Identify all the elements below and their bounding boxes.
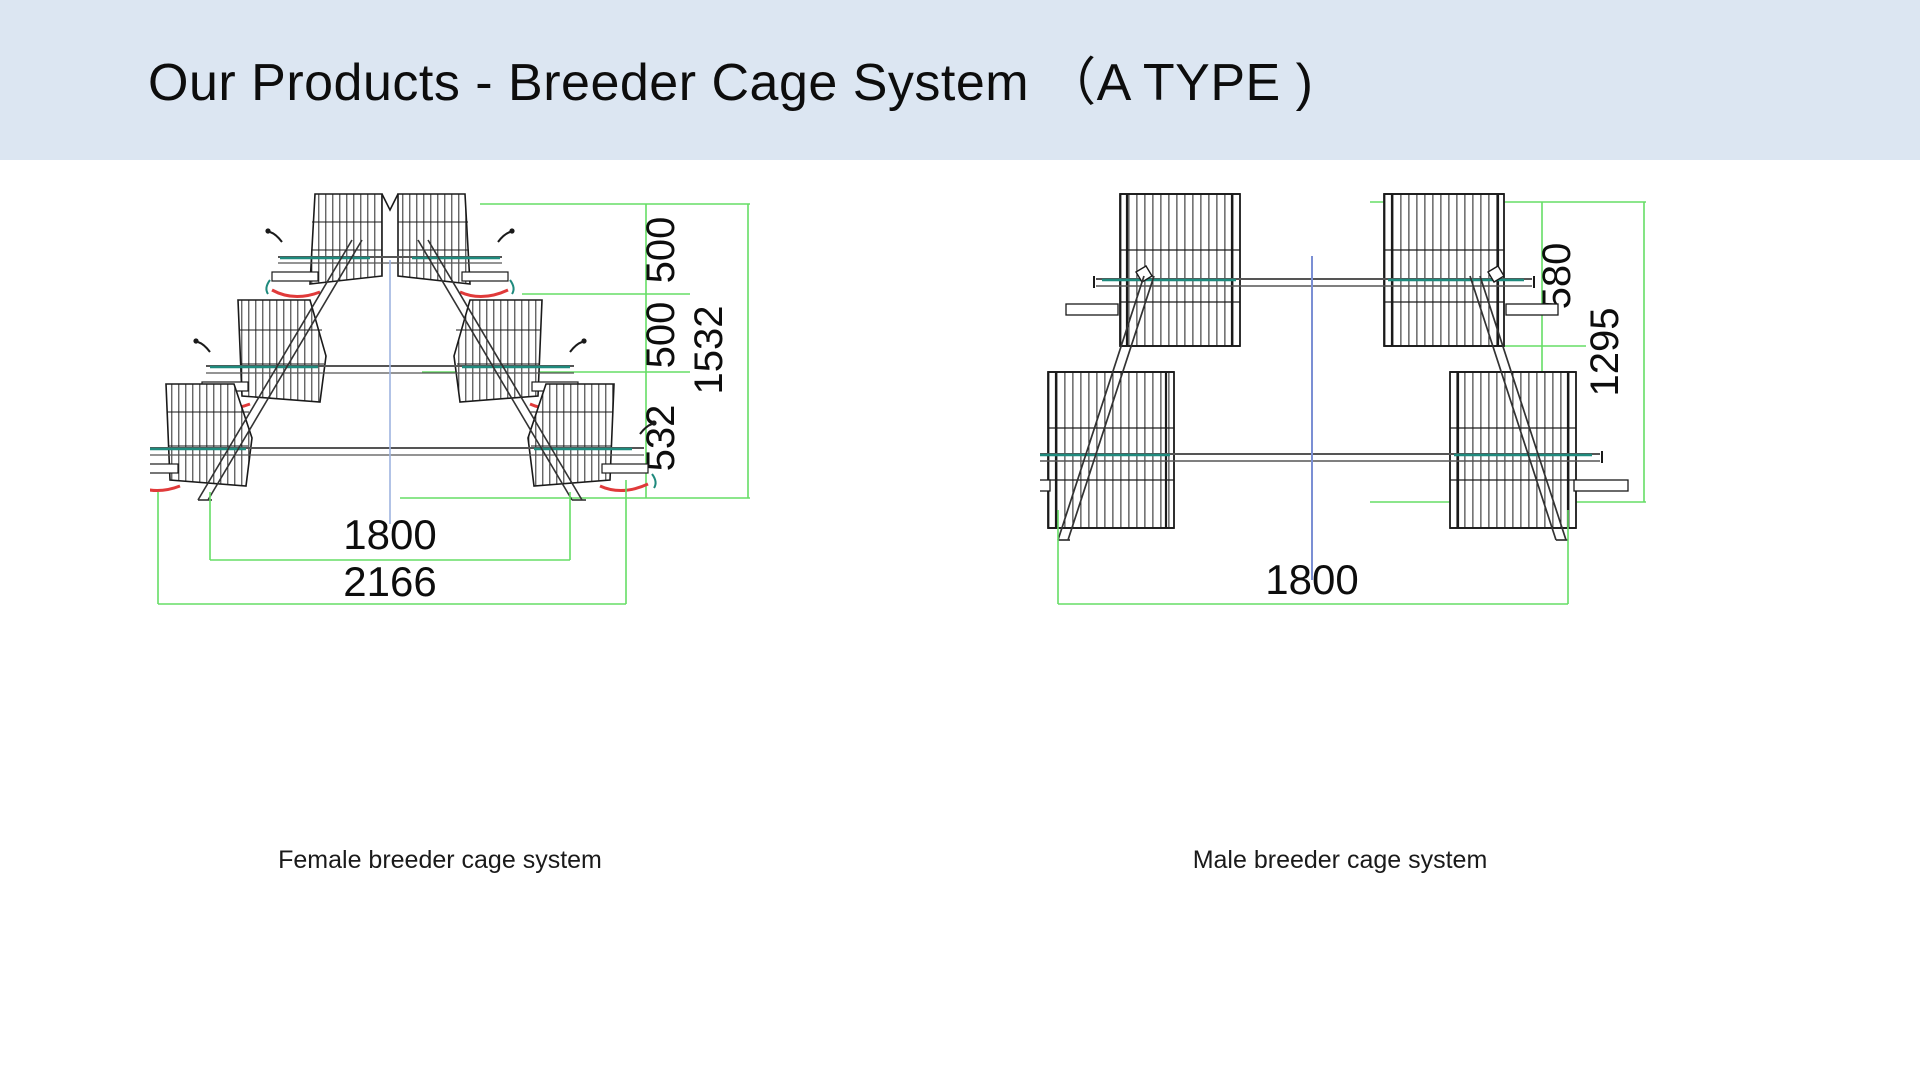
male-cage-svg: 580 715 1295	[1040, 180, 1820, 800]
dim-label-male-1800: 1800	[1265, 556, 1358, 603]
slide-header-band: Our Products - Breeder Cage System （A TY…	[0, 0, 1920, 160]
female-cage-drawing: 500 500 532 1532	[150, 180, 930, 800]
dim-label-female-overall-height: 1532	[687, 306, 731, 395]
male-cage-drawing: 580 715 1295	[1040, 180, 1820, 800]
dim-label-female-500-middle: 500	[639, 302, 683, 369]
dim-label-female-532-bottom: 532	[639, 405, 683, 472]
dim-label-female-2166: 2166	[343, 558, 436, 605]
dim-label-female-500-top: 500	[639, 217, 683, 284]
female-tier-bottom	[150, 384, 657, 491]
dim-label-male-580: 580	[1535, 243, 1579, 310]
slide-body: 500 500 532 1532	[0, 160, 1920, 1079]
dim-label-female-1800: 1800	[343, 511, 436, 558]
page-title: Our Products - Breeder Cage System （A TY…	[148, 56, 1313, 111]
male-tier-bottom	[1040, 372, 1628, 528]
dim-label-male-overall-height: 1295	[1583, 308, 1627, 397]
female-cage-svg: 500 500 532 1532	[150, 180, 930, 800]
male-cage-caption: Male breeder cage system	[1020, 846, 1660, 875]
female-cage-caption: Female breeder cage system	[120, 846, 760, 875]
